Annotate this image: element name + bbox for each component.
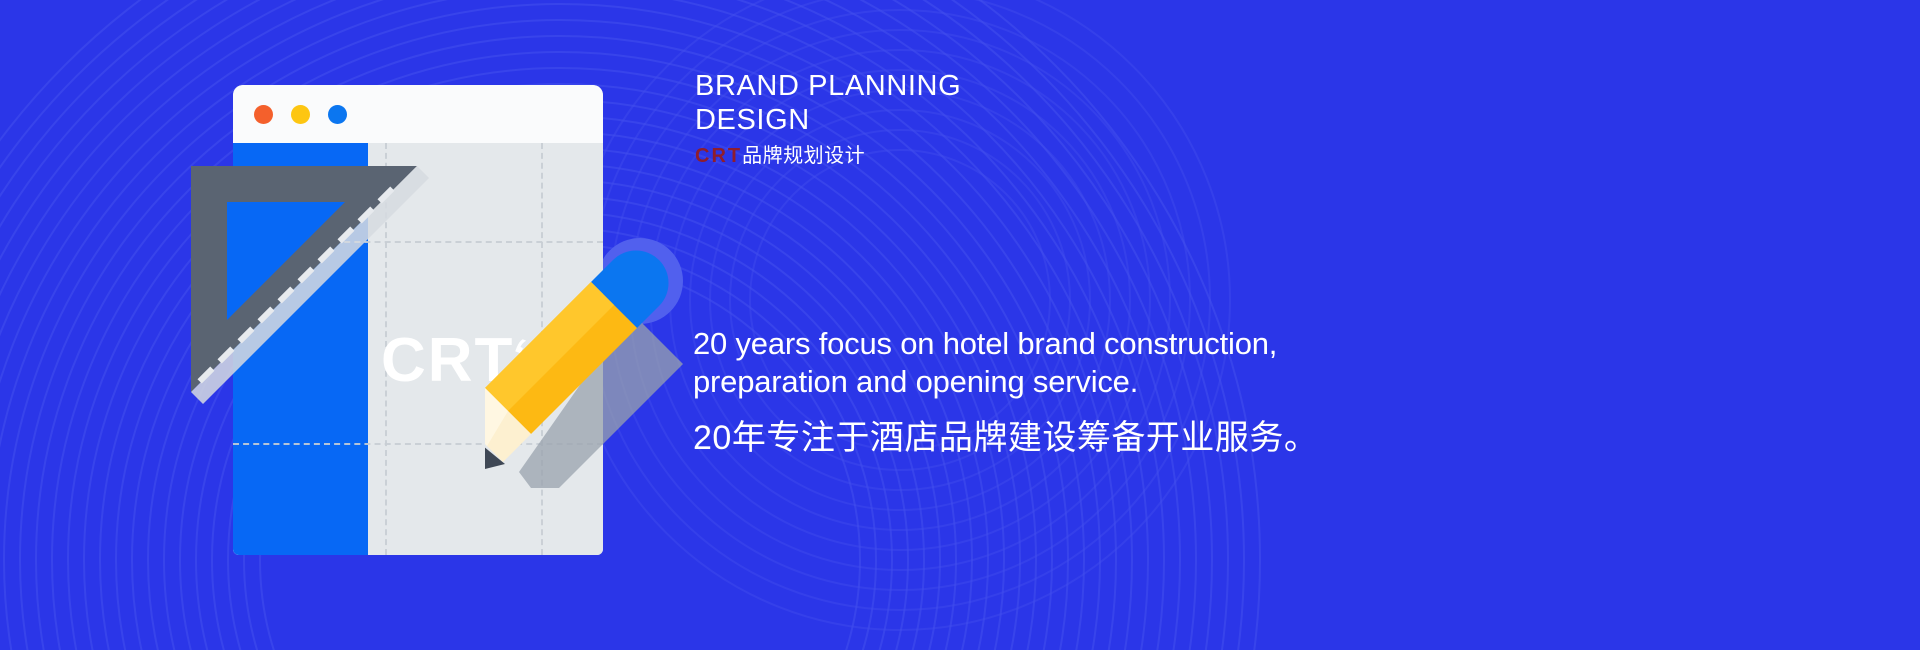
close-dot (254, 105, 273, 124)
minimize-dot (291, 105, 310, 124)
tagline-en-line-1: 20 years focus on hotel brand constructi… (693, 325, 1873, 363)
brand-banner: CRT‘ (0, 0, 1920, 650)
triangle-ruler-icon (185, 160, 445, 410)
heading-subtitle: CRT品牌规划设计 (695, 146, 961, 166)
heading-block: BRAND PLANNING DESIGN CRT品牌规划设计 (695, 72, 961, 166)
heading-line-2: DESIGN (695, 106, 961, 135)
pencil-icon (485, 250, 705, 500)
brand-illustration: CRT‘ (185, 60, 705, 580)
tagline-en-line-2: preparation and opening service. (693, 363, 1873, 401)
tagline-block: 20 years focus on hotel brand constructi… (693, 325, 1873, 459)
maximize-dot (328, 105, 347, 124)
heading-line-1: BRAND PLANNING (695, 72, 961, 101)
brand-code-label: CRT (695, 145, 742, 167)
tagline-cn: 20年专注于酒店品牌建设筹备开业服务。 (693, 417, 1873, 459)
browser-titlebar (233, 85, 603, 143)
subtitle-cn-label: 品牌规划设计 (742, 145, 865, 167)
